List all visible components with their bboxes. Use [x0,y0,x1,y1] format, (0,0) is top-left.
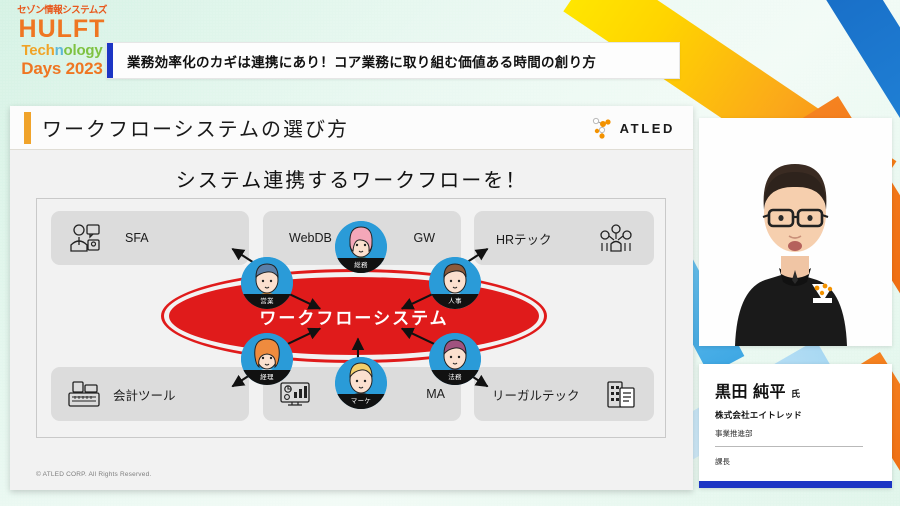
speaker-name-suffix: 氏 [791,389,801,399]
speaker-department: 事業推進部 [715,428,876,439]
card-ma-label: MA [426,387,445,401]
avatar-marke-tag: マーケ [335,394,387,409]
card-legal-tech[interactable]: リーガルテック [474,367,654,421]
speaker-card-accent-bar [699,481,892,488]
title-accent-bar [107,43,113,78]
atled-mark-icon [589,115,615,141]
card-hr-tech[interactable]: HRテック [474,211,654,265]
card-hr-label: HRテック [496,229,552,248]
event-logo: セゾン情報システムズ HULFT Technology Days 2023 [16,6,108,77]
avatar-eigyo-tag: 営業 [241,294,293,309]
salesperson-icon [69,223,101,253]
slide-subtitle: システム連携するワークフローを！ [10,150,693,201]
avatar-marke: マーケ [335,357,387,409]
slide-accent-bar [24,112,31,144]
presenter-illustration [699,118,892,346]
avatar-keiri: 経理 [241,333,293,385]
avatar-jinji: 人事 [429,257,481,309]
logo-hulft: HULFT [16,17,108,42]
logo-days-year: Days 2023 [16,60,108,77]
logo-tech-part-b: n [55,42,64,59]
atled-logo: ATLED [589,115,675,141]
avatar-eigyo: 営業 [241,257,293,309]
workflow-center-node: ワークフローシステム [169,277,539,355]
session-title-text: 業務効率化のカギは連携にあり！コア業務に取り組む価値ある時間の創り方 [127,51,596,71]
avatar-keiri-tag: 経理 [241,370,293,385]
hr-network-icon [600,224,632,252]
speaker-name: 黒田 純平 [715,384,786,401]
speaker-job-title: 課長 [715,456,876,467]
avatar-soumu: 総務 [335,221,387,273]
slide-header: ワークフローシステムの選び方 ATLED [10,106,693,150]
session-title-bar: 業務効率化のカギは連携にあり！コア業務に取り組む価値ある時間の創り方 [106,42,680,79]
card-webdb-label: WebDB [289,231,332,245]
card-accounting-label: 会計ツール [113,385,176,404]
card-sfa-label: SFA [125,231,149,245]
logo-tech-part-a: Tech [21,42,54,59]
cash-register-icon [67,379,101,409]
card-gw-label: GW [413,231,435,245]
diagram-frame: ワークフローシステム SFA WebDB GW HRテック [36,198,666,438]
card-sfa[interactable]: SFA [51,211,249,265]
building-document-icon [606,379,636,409]
card-accounting-tool[interactable]: 会計ツール [51,367,249,421]
speaker-company: 株式会社エイトレッド [715,409,876,421]
logo-technology: Technology [16,43,108,58]
avatar-houmu-tag: 法務 [429,370,481,385]
avatar-houmu: 法務 [429,333,481,385]
speaker-info-card: 黒田 純平氏 株式会社エイトレッド 事業推進部 課長 [699,364,892,488]
presentation-slide: ワークフローシステムの選び方 ATLED システム連携するワークフローを！ [10,106,693,490]
presenter-video[interactable] [699,118,892,346]
slide-copyright: © ATLED CORP. All Rights Reserved. [36,471,151,478]
slide-heading: ワークフローシステムの選び方 [42,113,349,142]
speaker-name-row: 黒田 純平氏 [715,378,876,402]
speaker-divider [715,446,863,447]
avatar-soumu-tag: 総務 [335,258,387,273]
atled-wordmark: ATLED [620,121,675,136]
avatar-jinji-tag: 人事 [429,294,481,309]
logo-tech-part-c: ology [64,42,103,59]
card-legal-label: リーガルテック [492,385,580,404]
